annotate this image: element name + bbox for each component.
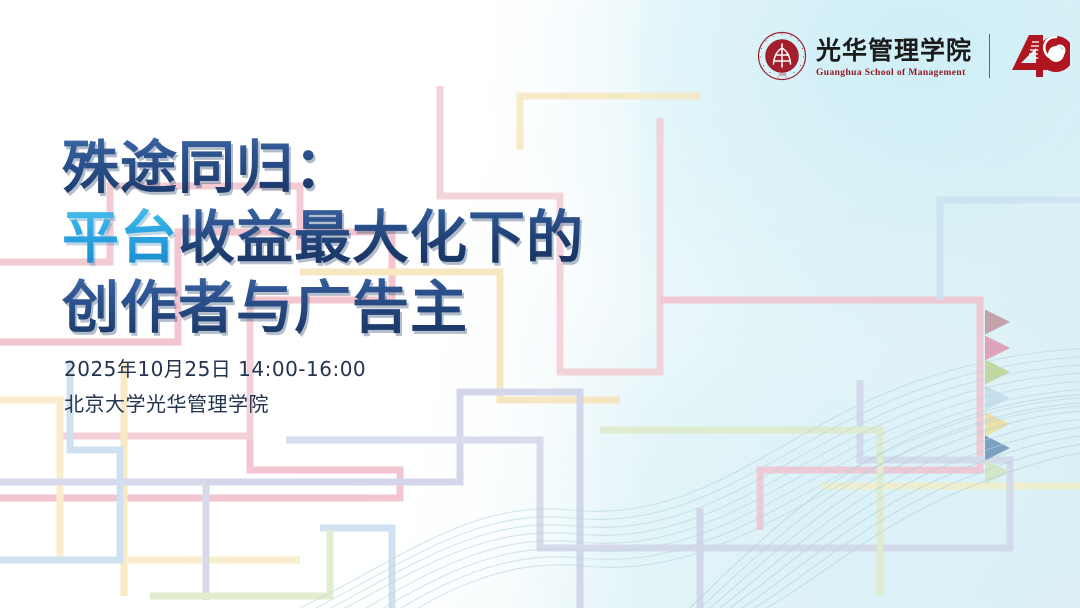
logo-wordmark: 光华管理学院 Guanghua School of Management [816,30,976,82]
title-line-3: 创作者与广告主 [62,273,892,343]
seal-year: 1898 [778,72,786,77]
poster-title: 殊途同归： 平台收益最大化下的 创作者与广告主 [62,133,892,343]
title-line-2-highlight: 平台 [62,205,178,271]
title-line-2-rest: 收益最大化下的 [178,205,584,271]
guanghua-chinese-name-icon: 光华管理学院 [816,34,976,66]
event-poster: 1898 光华管理学院 Guanghua School of Managemen… [0,0,1080,608]
guanghua-english-name: Guanghua School of Management [816,68,976,78]
guanghua-logo: 1898 光华管理学院 Guanghua School of Managemen… [757,27,1070,85]
logo-divider [989,34,990,78]
anniversary-40-icon [1008,31,1070,81]
guanghua-chinese-name: 光华管理学院 [816,36,972,65]
title-line-2: 平台收益最大化下的 [62,203,892,273]
event-datetime: 2025年10月25日 14:00-16:00 [64,352,366,387]
event-meta: 2025年10月25日 14:00-16:00 北京大学光华管理学院 [64,352,366,422]
peking-university-seal-icon: 1898 [757,31,807,81]
title-line-1: 殊途同归： [62,133,892,203]
event-venue: 北京大学光华管理学院 [64,387,366,422]
